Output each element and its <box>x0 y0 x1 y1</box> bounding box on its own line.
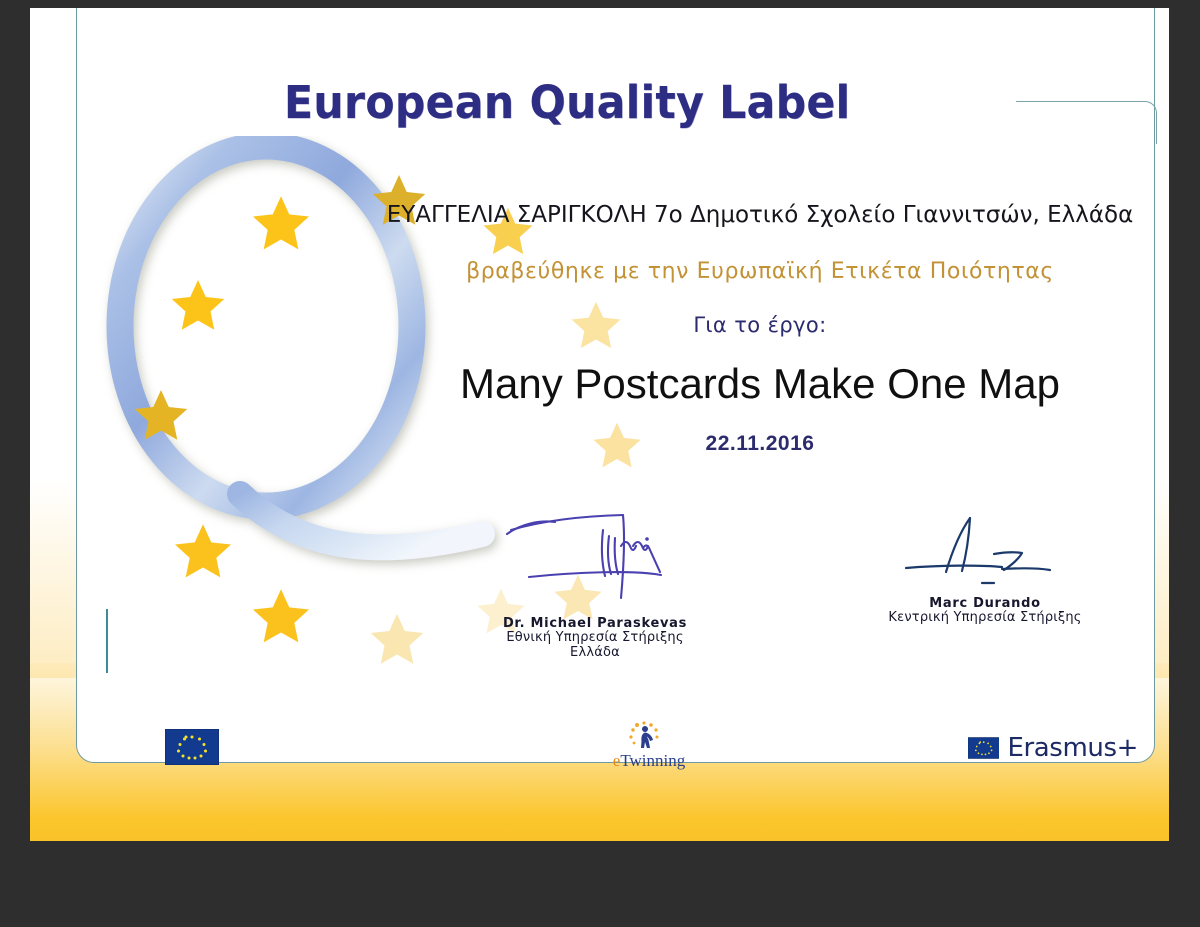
screenshot-frame: European Quality Label ΕΥΑΓΓΕΛΙΑ ΣΑΡΙΓΚΟ… <box>0 0 1200 927</box>
page-title-text: European Quality Label <box>284 76 850 129</box>
star-icon <box>248 585 314 649</box>
eu-flag-icon <box>968 731 999 765</box>
signatory-name: Marc Durando <box>860 596 1110 611</box>
page-title: European Quality Label <box>30 76 1169 129</box>
star-icon <box>170 520 236 584</box>
star-icon <box>167 276 229 336</box>
signature-block-left: Dr. Michael Paraskevas Εθνική Υπηρεσία Σ… <box>450 506 740 661</box>
handwritten-signature-icon <box>485 506 705 616</box>
erasmus-wordmark: Erasmus+ <box>1007 733 1138 763</box>
handwritten-signature-icon <box>890 508 1080 596</box>
etwinning-wordmark: eTwinning <box>604 752 694 769</box>
etwinning-logo: eTwinning <box>604 720 694 772</box>
signatory-role-line1: Κεντρική Υπηρεσία Στήριξης <box>860 611 1110 626</box>
certificate-slide: European Quality Label ΕΥΑΓΓΕΛΙΑ ΣΑΡΙΓΚΟ… <box>30 8 1169 841</box>
signatory-name: Dr. Michael Paraskevas <box>450 616 740 631</box>
etwinning-word: Twinning <box>620 751 685 770</box>
for-project-label: Για το έργο: <box>360 313 1160 337</box>
signatory-role-line1: Εθνική Υπηρεσία Στήριξης <box>450 631 740 646</box>
star-icon <box>248 192 314 256</box>
star-icon <box>130 386 192 446</box>
erasmus-plus-logo: Erasmus+ <box>968 726 1138 770</box>
star-icon <box>366 610 428 670</box>
recipient-line: ΕΥΑΓΓΕΛΙΑ ΣΑΡΙΓΚΟΛΗ 7ο Δημοτικό Σχολείο … <box>360 202 1160 228</box>
award-statement: βραβεύθηκε με την Ευρωπαϊκή Ετικέτα Ποιό… <box>360 259 1160 284</box>
left-tick-decoration <box>106 609 108 673</box>
signatory-role-line2: Ελλάδα <box>450 646 740 661</box>
eu-flag-icon <box>165 729 219 765</box>
signature-block-right: Marc Durando Κεντρική Υπηρεσία Στήριξης <box>860 508 1110 626</box>
award-date: 22.11.2016 <box>360 432 1160 456</box>
etwinning-mark-icon <box>623 720 675 752</box>
project-title: Many Postcards Make One Map <box>360 360 1160 408</box>
